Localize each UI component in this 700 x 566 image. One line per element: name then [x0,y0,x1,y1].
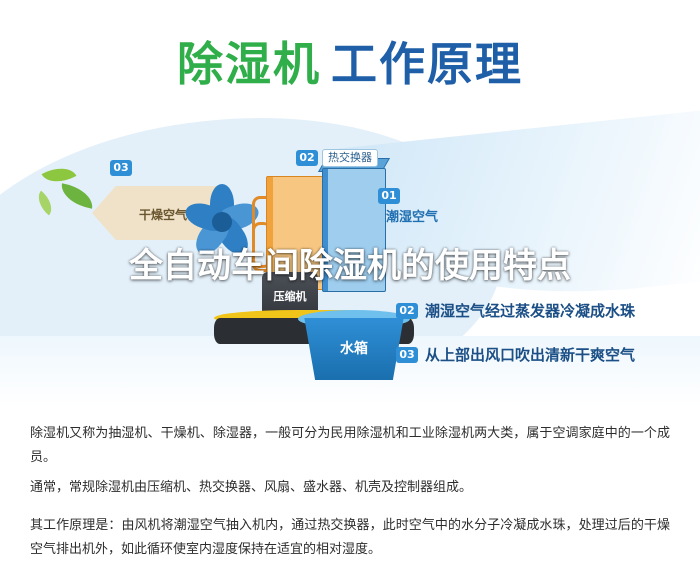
title-blue-text: 工作原理 [331,37,523,91]
page-root: 除湿机工作原理 干燥空气 03 02 热交换器 01 潮湿空气 压缩机 [0,0,700,566]
principle-illustration: 除湿机工作原理 干燥空气 03 02 热交换器 01 潮湿空气 压缩机 [0,0,700,406]
fan-hub [212,212,232,232]
badge-03-diagram: 03 [110,160,132,176]
caption-badge-03: 03 [396,347,418,363]
caption-row-02: 02潮湿空气经过蒸发器冷凝成水珠 [396,300,635,321]
body-paragraph-3-label: 其工作原理是： [30,518,121,533]
body-paragraph-2: 通常，常规除湿机由压缩机、热交换器、风扇、盛水器、机壳及控制器组成。 [30,476,670,500]
body-paragraph-3-text: 由风机将潮湿空气抽入机内，通过热交换器，此时空气中的水分子冷凝成水珠，处理过后的… [30,518,670,557]
heat-exchanger-label: 热交换器 [322,149,378,167]
caption-badge-02: 02 [396,303,418,319]
badge-02-diagram: 02 [296,150,318,166]
body-paragraph-3: 其工作原理是：由风机将潮湿空气抽入机内，通过热交换器，此时空气中的水分子冷凝成水… [30,514,670,562]
title-green-text: 除湿机 [177,37,321,91]
caption-row-03: 03从上部出风口吹出清新干爽空气 [396,344,635,365]
body-paragraph-1: 除湿机又称为抽湿机、干燥机、除湿器，一般可分为民用除湿机和工业除湿机两大类，属于… [30,422,670,470]
caption-text-03: 从上部出风口吹出清新干爽空气 [425,346,635,364]
article-body: 除湿机又称为抽湿机、干燥机、除湿器，一般可分为民用除湿机和工业除湿机两大类，属于… [0,408,700,566]
compressor-label: 压缩机 [266,288,314,304]
water-tank-label: 水箱 [300,338,408,358]
wet-air-label: 潮湿空气 [386,206,438,225]
page-title: 除湿机工作原理 [0,28,700,94]
badge-01-diagram: 01 [378,188,400,204]
caption-text-02: 潮湿空气经过蒸发器冷凝成水珠 [425,302,635,320]
overlay-headline: 全自动车间除湿机的使用特点 [0,246,700,286]
